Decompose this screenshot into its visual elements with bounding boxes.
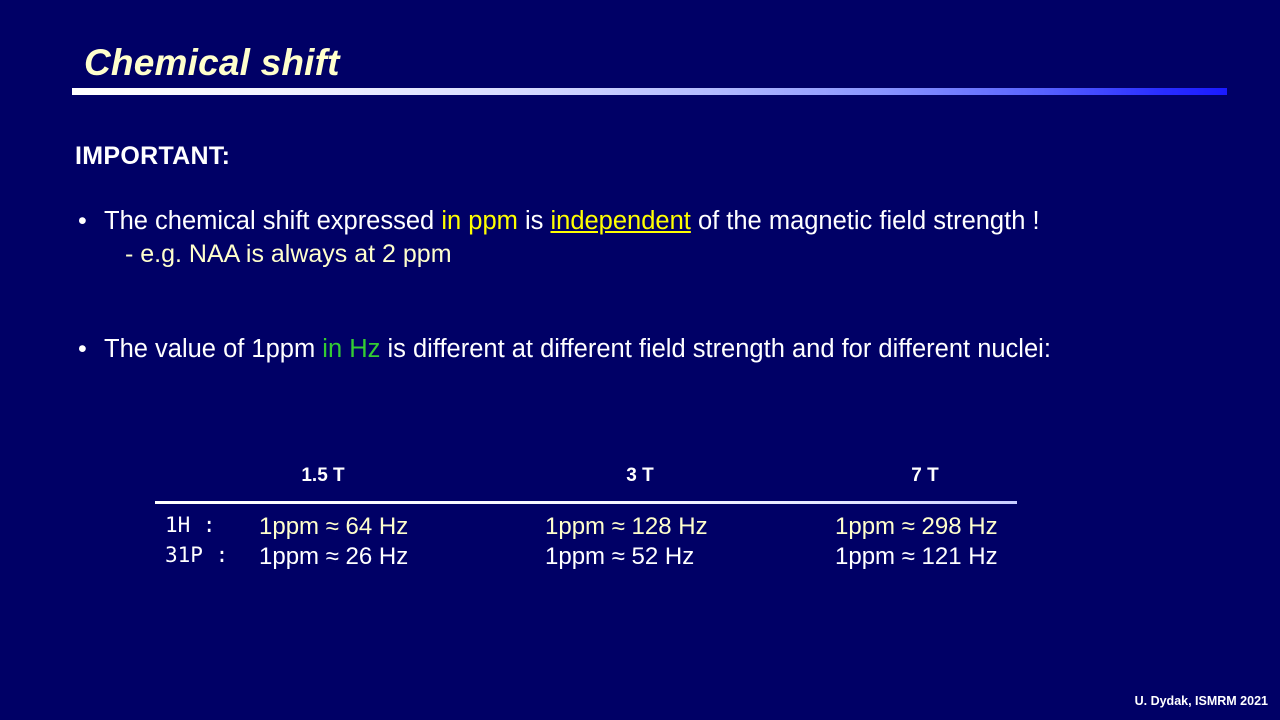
table-row: 1H : 1ppm ≈ 64 Hz 1ppm ≈ 128 Hz 1ppm ≈ 2…: [155, 513, 1017, 543]
title-divider-rule: [72, 88, 1227, 95]
table-cell-31p-1p5t: 1ppm ≈ 26 Hz: [259, 543, 408, 571]
footer-credit: U. Dydak, ISMRM 2021: [1135, 694, 1268, 708]
table-cell-1h-1p5t: 1ppm ≈ 64 Hz: [259, 513, 408, 541]
table-col-header-2: 3 T: [590, 465, 690, 487]
bullet-group-two: • The value of 1ppm in Hz is different a…: [78, 333, 1188, 366]
bullet-group-one: • The chemical shift expressed in ppm is…: [78, 205, 1263, 271]
bullet-dot-icon: •: [78, 205, 104, 238]
highlight-in-hz: in Hz: [322, 335, 380, 363]
bullet-one-part1: The chemical shift expressed: [104, 207, 441, 235]
table-header-row: 1.5 T 3 T 7 T: [155, 465, 1017, 495]
highlight-in-ppm: in ppm: [441, 207, 518, 235]
slide-canvas: Chemical shift IMPORTANT: • The chemical…: [0, 0, 1280, 720]
table-header-rule: [155, 501, 1017, 504]
bullet-two-part1: The value of 1ppm: [104, 335, 322, 363]
bullet-one-part3: of the magnetic field strength !: [691, 207, 1040, 235]
field-strength-table: 1.5 T 3 T 7 T 1H : 1ppm ≈ 64 Hz 1ppm ≈ 1…: [155, 465, 1017, 495]
bullet-one-part2: is: [518, 207, 551, 235]
bullet-two-part2: is different at different field strength…: [380, 335, 1051, 363]
bullet-one-text: The chemical shift expressed in ppm is i…: [104, 205, 1263, 238]
bullet-dot-icon: •: [78, 333, 104, 366]
table-cell-31p-7t: 1ppm ≈ 121 Hz: [835, 543, 998, 571]
table-col-header-1: 1.5 T: [273, 465, 373, 487]
highlight-independent: independent: [550, 207, 690, 235]
important-heading: IMPORTANT:: [75, 142, 230, 171]
table-cell-1h-3t: 1ppm ≈ 128 Hz: [545, 513, 708, 541]
bullet-item-one: • The chemical shift expressed in ppm is…: [78, 205, 1263, 238]
bullet-two-text: The value of 1ppm in Hz is different at …: [104, 333, 1188, 366]
table-row-label-1h: 1H :: [165, 513, 216, 537]
bullet-one-subnote: - e.g. NAA is always at 2 ppm: [125, 238, 1263, 271]
table-row-label-31p: 31P :: [165, 543, 228, 567]
table-cell-31p-3t: 1ppm ≈ 52 Hz: [545, 543, 694, 571]
table-body: 1H : 1ppm ≈ 64 Hz 1ppm ≈ 128 Hz 1ppm ≈ 2…: [155, 513, 1017, 573]
table-cell-1h-7t: 1ppm ≈ 298 Hz: [835, 513, 998, 541]
table-row: 31P : 1ppm ≈ 26 Hz 1ppm ≈ 52 Hz 1ppm ≈ 1…: [155, 543, 1017, 573]
table-col-header-3: 7 T: [875, 465, 975, 487]
bullet-item-two: • The value of 1ppm in Hz is different a…: [78, 333, 1188, 366]
page-title: Chemical shift: [84, 42, 340, 84]
